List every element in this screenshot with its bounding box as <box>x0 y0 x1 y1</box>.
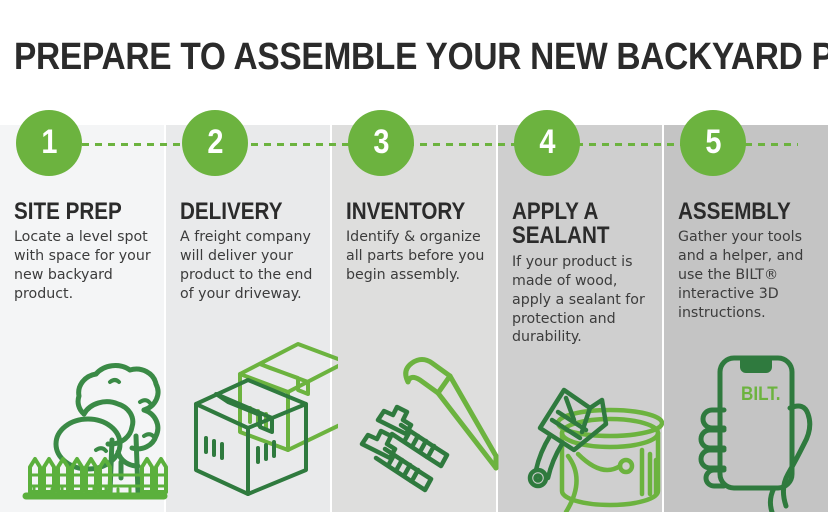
infographic-root: PREPARE TO ASSEMBLE YOUR NEW BACKYARD PR… <box>0 0 828 512</box>
step-badge-2: 2 <box>182 110 248 176</box>
step-badge-5: 5 <box>680 110 746 176</box>
title-bar: PREPARE TO ASSEMBLE YOUR NEW BACKYARD PR… <box>0 0 828 110</box>
step-heading-1: SITE PREP <box>14 200 134 224</box>
stacked-boxes-icon <box>186 330 338 512</box>
step-heading-2: DELIVERY <box>180 200 300 224</box>
step-number-2: 2 <box>207 125 223 159</box>
phone-screen-logo: BILT. <box>741 383 781 404</box>
step-body-1: Locate a level spot with space for your … <box>14 228 156 304</box>
tree-and-fence-icon <box>18 344 168 512</box>
step-heading-4: APPLY A SEALANT <box>512 200 632 249</box>
step-text-1: SITE PREP Locate a level spot with space… <box>14 200 154 304</box>
step-heading-5: ASSEMBLY <box>678 200 798 224</box>
hand-holding-phone-icon: BILT. <box>678 352 828 512</box>
step-number-1: 1 <box>41 125 57 159</box>
wrench-and-screws-icon <box>344 352 500 512</box>
step-body-4: If your product is made of wood, apply a… <box>512 253 654 347</box>
step-badge-3: 3 <box>348 110 414 176</box>
step-badge-4: 4 <box>514 110 580 176</box>
step-badge-1: 1 <box>16 110 82 176</box>
step-number-5: 5 <box>705 125 721 159</box>
step-text-3: INVENTORY Identify & organize all parts … <box>346 200 486 285</box>
page-title: PREPARE TO ASSEMBLE YOUR NEW BACKYARD PR… <box>14 38 828 76</box>
step-number-4: 4 <box>539 125 555 159</box>
paintbrush-and-can-icon <box>506 378 664 512</box>
step-body-3: Identify & organize all parts before you… <box>346 228 488 285</box>
step-text-5: ASSEMBLY Gather your tools and a helper,… <box>678 200 818 323</box>
step-heading-3: INVENTORY <box>346 200 466 224</box>
step-body-2: A freight company will deliver your prod… <box>180 228 322 304</box>
step-text-2: DELIVERY A freight company will deliver … <box>180 200 320 304</box>
step-number-3: 3 <box>373 125 389 159</box>
step-text-4: APPLY A SEALANT If your product is made … <box>512 200 652 347</box>
step-body-5: Gather your tools and a helper, and use … <box>678 228 820 322</box>
